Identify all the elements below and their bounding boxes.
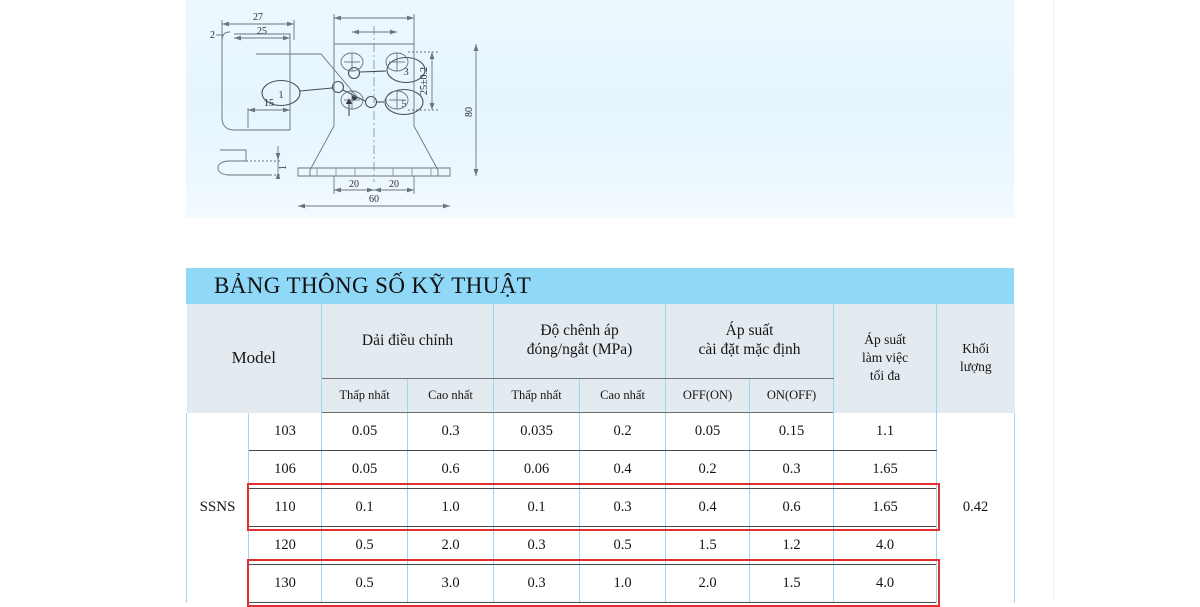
svg-text:27: 27 — [253, 12, 263, 23]
off-on-cell: 2.0 — [666, 565, 750, 603]
model-cell: 130 — [249, 565, 322, 603]
svg-text:25±0.2: 25±0.2 — [419, 67, 430, 95]
max-working-cell: 4.0 — [834, 527, 937, 565]
header-differential-line2: đóng/ngắt (MPa) — [495, 341, 664, 360]
range-max-cell: 0.3 — [408, 413, 494, 451]
off-on-cell: 1.5 — [666, 527, 750, 565]
circuit-diagram: 1 3 5 — [262, 58, 425, 117]
model-cell: 120 — [249, 527, 322, 565]
range-max-cell: 3.0 — [408, 565, 494, 603]
off-on-cell: 0.2 — [666, 451, 750, 489]
spec-table: Model Dải điều chỉnh Độ chênh áp đóng/ng… — [186, 304, 1015, 603]
header-weight-line2: lượng — [938, 358, 1014, 376]
header-weight-line1: Khối — [938, 340, 1014, 358]
diff-min-cell: 0.035 — [494, 413, 580, 451]
diff-max-cell: 1.0 — [580, 565, 666, 603]
diff-min-cell: 0.3 — [494, 565, 580, 603]
diff-min-cell: 0.1 — [494, 489, 580, 527]
document-page: 1 3 5 — [0, 0, 1200, 600]
on-off-cell: 0.3 — [750, 451, 834, 489]
model-cell: 106 — [249, 451, 322, 489]
range-min-cell: 0.05 — [322, 451, 408, 489]
range-min-cell: 0.5 — [322, 527, 408, 565]
on-off-cell: 1.5 — [750, 565, 834, 603]
diff-max-cell: 0.2 — [580, 413, 666, 451]
svg-text:1: 1 — [278, 89, 284, 101]
off-on-cell: 0.4 — [666, 489, 750, 527]
header-differential: Độ chênh áp đóng/ngắt (MPa) — [494, 304, 666, 379]
diff-max-cell: 0.3 — [580, 489, 666, 527]
header-diff-min: Thấp nhất — [494, 379, 580, 413]
svg-text:20: 20 — [389, 179, 399, 190]
range-max-cell: 1.0 — [408, 489, 494, 527]
header-differential-line1: Độ chênh áp — [495, 322, 664, 341]
max-working-cell: 1.65 — [834, 451, 937, 489]
header-max-working-line3: tối đa — [835, 367, 935, 385]
max-working-cell: 4.0 — [834, 565, 937, 603]
table-row: SSNS1030.050.30.0350.20.050.151.10.42 — [187, 413, 1015, 451]
header-default-setting-line2: cài đặt mặc định — [667, 341, 832, 360]
svg-text:2: 2 — [210, 30, 215, 41]
svg-text:20: 20 — [349, 179, 359, 190]
diff-min-cell: 0.3 — [494, 527, 580, 565]
page-column-rule — [1053, 0, 1054, 600]
on-off-cell: 0.6 — [750, 489, 834, 527]
spec-table-head: Model Dải điều chỉnh Độ chênh áp đóng/ng… — [187, 304, 1015, 413]
header-max-working-line1: Áp suất — [835, 331, 935, 349]
on-off-cell: 1.2 — [750, 527, 834, 565]
range-max-cell: 0.6 — [408, 451, 494, 489]
svg-text:25: 25 — [257, 26, 267, 37]
header-off-on: OFF(ON) — [666, 379, 750, 413]
header-on-off: ON(OFF) — [750, 379, 834, 413]
range-min-cell: 0.5 — [322, 565, 408, 603]
model-cell: 103 — [249, 413, 322, 451]
max-working-cell: 1.65 — [834, 489, 937, 527]
spec-table-section: BẢNG THÔNG SỐ KỸ THUẬT Model Dải điều ch… — [186, 268, 1014, 603]
table-row: 1100.11.00.10.30.40.61.65 — [187, 489, 1015, 527]
spec-table-title-bar: BẢNG THÔNG SỐ KỸ THUẬT — [186, 268, 1014, 304]
series-label-ssns: SSNS — [187, 413, 249, 603]
table-row: 1060.050.60.060.40.20.31.65 — [187, 451, 1015, 489]
svg-text:60: 60 — [369, 194, 379, 205]
header-adjust-range: Dải điều chỉnh — [322, 304, 494, 379]
diff-max-cell: 0.5 — [580, 527, 666, 565]
range-min-cell: 0.05 — [322, 413, 408, 451]
header-diff-max: Cao nhất — [580, 379, 666, 413]
table-row: 1200.52.00.30.51.51.24.0 — [187, 527, 1015, 565]
header-default-setting: Áp suất cài đặt mặc định — [666, 304, 834, 379]
off-on-cell: 0.05 — [666, 413, 750, 451]
svg-text:80: 80 — [464, 107, 475, 117]
svg-text:3: 3 — [403, 66, 409, 78]
model-cell: 110 — [249, 489, 322, 527]
product-diagram-panel: 1 3 5 — [186, 0, 1014, 218]
diff-min-cell: 0.06 — [494, 451, 580, 489]
svg-text:1: 1 — [278, 165, 289, 170]
header-default-setting-line1: Áp suất — [667, 322, 832, 341]
svg-text:15: 15 — [264, 98, 274, 109]
header-max-working-line2: làm việc — [835, 349, 935, 367]
max-working-cell: 1.1 — [834, 413, 937, 451]
header-range-max: Cao nhất — [408, 379, 494, 413]
on-off-cell: 0.15 — [750, 413, 834, 451]
weight-cell: 0.42 — [937, 413, 1015, 603]
header-max-working-pressure: Áp suất làm việc tối đa — [834, 304, 937, 413]
range-max-cell: 2.0 — [408, 527, 494, 565]
header-weight: Khối lượng — [937, 304, 1015, 413]
table-row: 1300.53.00.31.02.01.54.0 — [187, 565, 1015, 603]
spec-table-body: SSNS1030.050.30.0350.20.050.151.10.42106… — [187, 413, 1015, 603]
page-title: BẢNG THÔNG SỐ KỸ THUẬT — [214, 273, 531, 299]
bracket-drawing: 27 25 2 15 — [210, 12, 478, 208]
header-range-min: Thấp nhất — [322, 379, 408, 413]
header-model: Model — [187, 304, 322, 413]
diff-max-cell: 0.4 — [580, 451, 666, 489]
range-min-cell: 0.1 — [322, 489, 408, 527]
